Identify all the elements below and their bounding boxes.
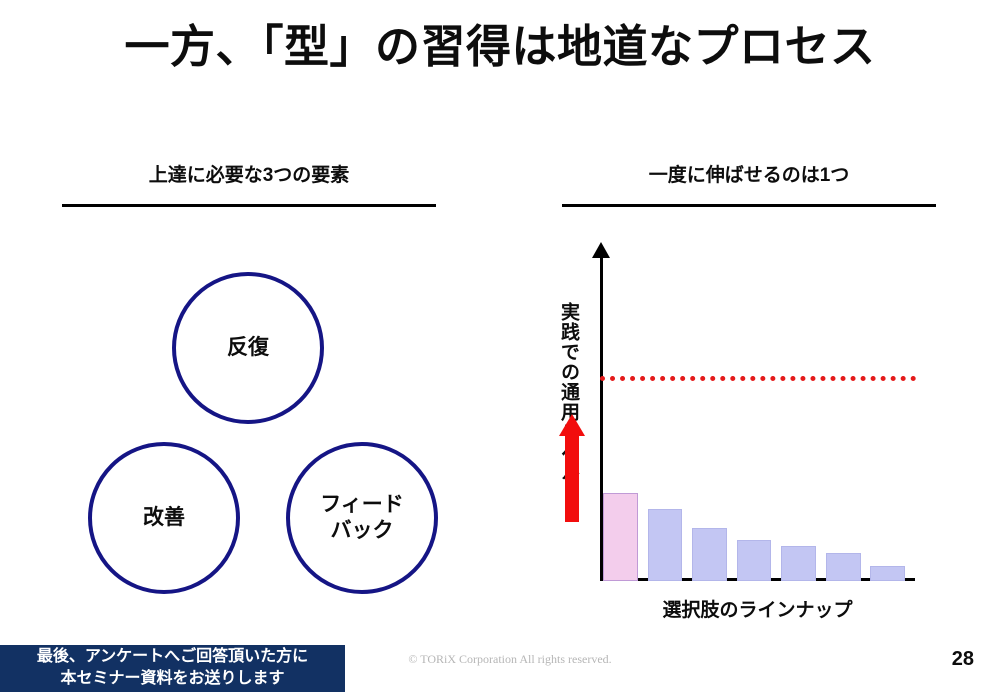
bar-chart: 実践での通用レベル 選択肢のラインナップ xyxy=(540,240,940,610)
gain-arrow-icon xyxy=(559,414,585,522)
bar-7 xyxy=(870,566,905,581)
footer-banner-line2: 本セミナー資料をお送りします xyxy=(60,668,284,690)
bar-4 xyxy=(737,540,772,581)
right-section-heading: 一度に伸ばせるのは1つ xyxy=(562,160,936,187)
x-axis-label: 選択肢のラインナップ xyxy=(585,595,930,622)
bar-3 xyxy=(692,528,727,581)
footer-banner: 最後、アンケートへご回答頂いた方に 本セミナー資料をお送りします xyxy=(0,645,345,692)
bar-2 xyxy=(648,509,683,581)
circle-feedback-label-line2: バック xyxy=(331,519,394,542)
circle-improvement: 改善 xyxy=(88,442,240,594)
bar-6 xyxy=(826,553,861,581)
left-heading-divider xyxy=(62,204,436,207)
circle-repetition: 反復 xyxy=(172,272,324,424)
copyright-notice: © TORiX Corporation All rights reserved. xyxy=(380,652,640,667)
circle-feedback-label-line1: フィード xyxy=(320,493,404,516)
gain-arrow-shaft xyxy=(565,432,579,522)
circle-repetition-label: 反復 xyxy=(227,335,269,361)
bar-series xyxy=(603,281,915,581)
circle-improvement-label: 改善 xyxy=(143,505,185,531)
page-number: 28 xyxy=(952,648,974,671)
left-section-heading: 上達に必要な3つの要素 xyxy=(62,160,436,187)
footer-banner-line1: 最後、アンケートへご回答頂いた方に xyxy=(37,646,308,668)
circle-feedback: フィード バック xyxy=(286,442,438,594)
bar-5 xyxy=(781,546,816,581)
bar-1 xyxy=(603,493,638,581)
slide-canvas: 一方、「型」の習得は地道なプロセス 上達に必要な3つの要素 反復 改善 フィード… xyxy=(0,0,1000,692)
circle-feedback-label: フィード バック xyxy=(320,492,404,545)
right-heading-divider xyxy=(562,204,936,207)
page-title: 一方、「型」の習得は地道なプロセス xyxy=(0,22,1000,72)
